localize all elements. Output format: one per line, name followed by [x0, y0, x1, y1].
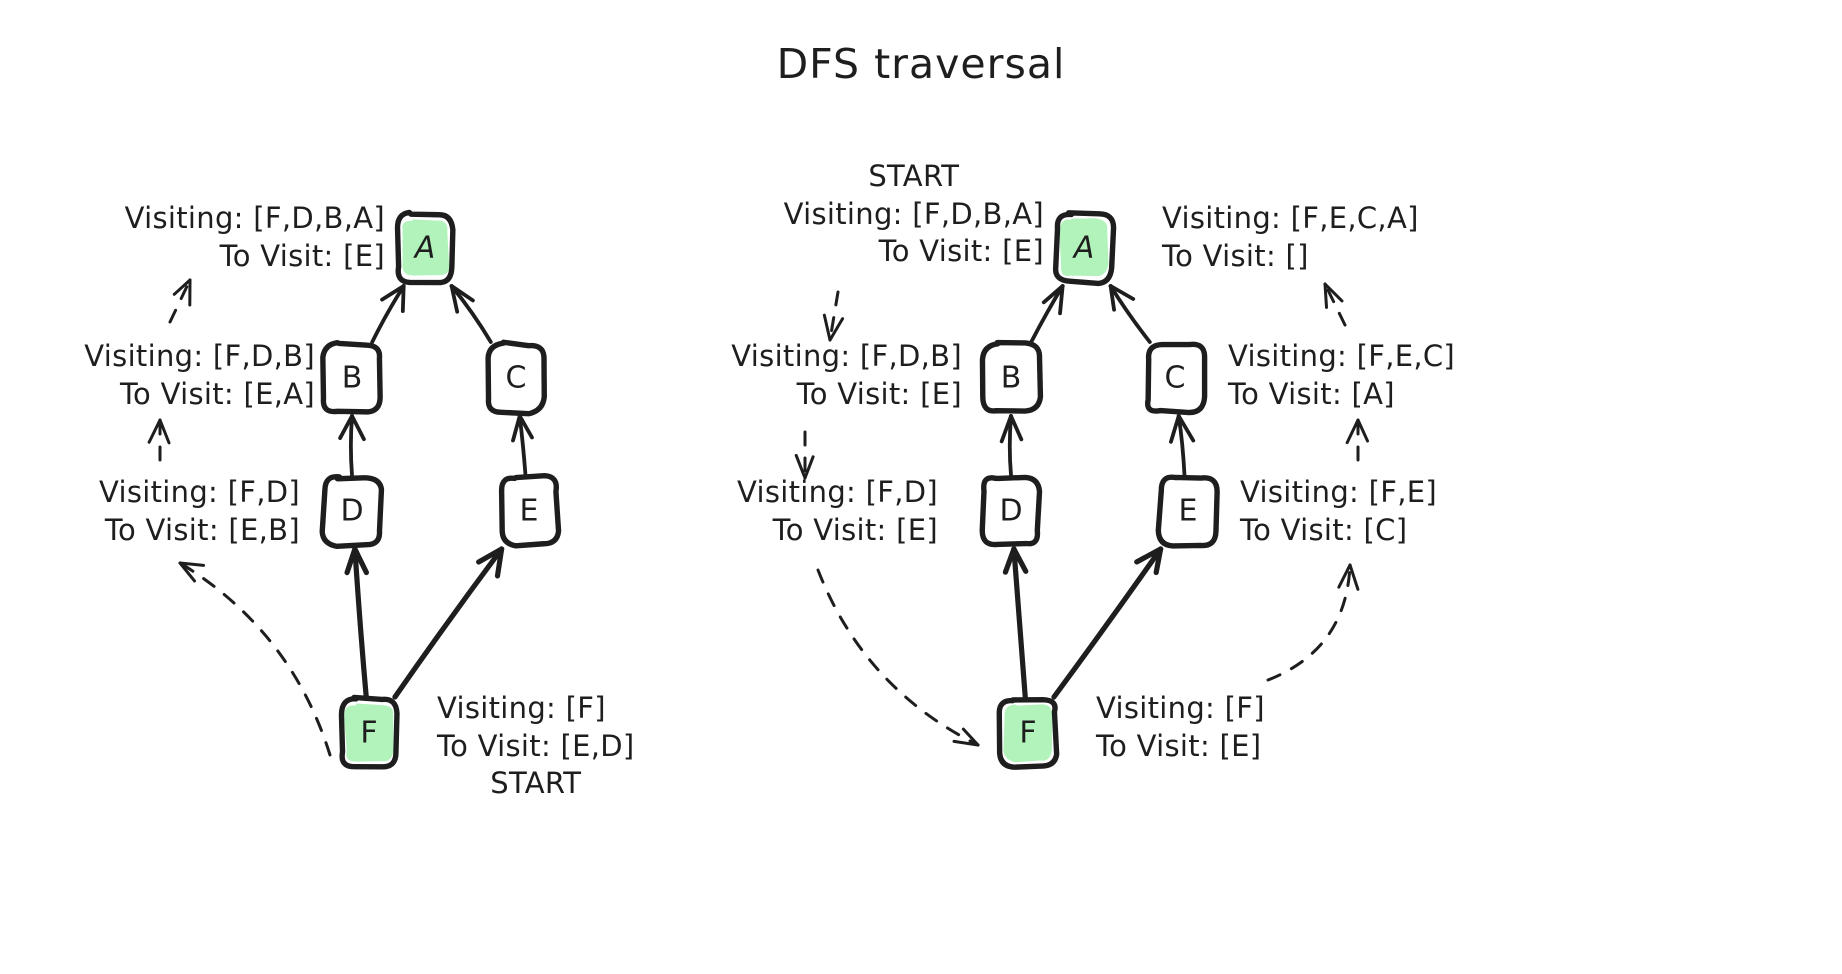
flow-d-to-f	[818, 570, 978, 745]
state-right-step-3-line-2: To Visit: [A]	[1228, 376, 1455, 414]
flow-b-to-a-head	[174, 280, 190, 305]
state-right-step-2-line-2: To Visit: [C]	[1240, 512, 1437, 550]
node-C-fill	[1150, 349, 1200, 408]
edge-C-to-A	[1111, 286, 1150, 342]
state-start-line-3: To Visit: [E]	[784, 233, 1044, 271]
node-D-fill	[328, 482, 376, 540]
state-step-1-line-2: To Visit: [E,D]	[437, 728, 635, 766]
node-B-fill	[327, 349, 376, 408]
node-E-fill	[506, 481, 553, 539]
edge-D-to-B	[351, 416, 352, 475]
state-step-4-line-2: To Visit: [E]	[125, 238, 385, 276]
node-E-fill	[1164, 482, 1211, 540]
edge-F-to-E	[1054, 549, 1161, 697]
state-right-step-1-line-1: Visiting: [F]	[1096, 690, 1265, 728]
flow-f-to-e	[1268, 565, 1350, 680]
node-C-fill	[492, 348, 540, 406]
state-right-step-4-line-2: To Visit: []	[1162, 238, 1419, 276]
flow-c-to-a-head	[1325, 284, 1342, 307]
state-step-3-line-1: Visiting: [F,D,B]	[84, 338, 315, 376]
state-left-step-2-line-1: Visiting: [F,D]	[737, 474, 938, 512]
state-right-step-2: Visiting: [F,E]To Visit: [C]	[1240, 474, 1437, 549]
state-right-step-4-line-1: Visiting: [F,E,C,A]	[1162, 200, 1419, 238]
state-left-step-3-line-2: To Visit: [E]	[731, 376, 962, 414]
state-right-step-3: Visiting: [F,E,C]To Visit: [A]	[1228, 338, 1455, 413]
state-step-4: Visiting: [F,D,B,A]To Visit: [E]	[125, 200, 385, 275]
state-left-step-3-line-1: Visiting: [F,D,B]	[731, 338, 962, 376]
edge-C-to-A	[452, 286, 491, 342]
state-right-step-2-line-1: Visiting: [F,E]	[1240, 474, 1437, 512]
edge-D-to-B	[1010, 416, 1011, 475]
flow-c-to-a	[1325, 284, 1345, 325]
state-step-4-line-1: Visiting: [F,D,B,A]	[125, 200, 385, 238]
state-start-line-1: START	[784, 158, 1044, 196]
state-step-3: Visiting: [F,D,B]To Visit: [E,A]	[84, 338, 315, 413]
state-step-3-line-2: To Visit: [E,A]	[84, 376, 315, 414]
state-step-2-line-1: Visiting: [F,D]	[99, 474, 300, 512]
diagram-canvas: DFS traversal ABCDEFVisiting: [F,D,B,A]T…	[0, 0, 1842, 974]
state-left-step-2: Visiting: [F,D]To Visit: [E]	[737, 474, 938, 549]
state-right-step-1-line-2: To Visit: [E]	[1096, 728, 1265, 766]
flow-f-to-d	[180, 563, 330, 755]
node-F-fill	[1003, 704, 1052, 762]
flow-d-to-f-head	[954, 729, 978, 745]
edge-F-to-E	[395, 549, 502, 697]
state-step-1-line-1: Visiting: [F]	[437, 690, 635, 728]
state-step-1-line-3: START	[437, 765, 635, 803]
state-left-step-3: Visiting: [F,D,B]To Visit: [E]	[731, 338, 962, 413]
flow-b-to-a	[170, 280, 190, 322]
edge-B-to-A	[1031, 286, 1062, 342]
state-step-2-line-2: To Visit: [E,B]	[99, 512, 300, 550]
node-B-fill	[987, 349, 1036, 408]
state-right-step-3-line-1: Visiting: [F,E,C]	[1228, 338, 1455, 376]
node-A-fill	[1059, 218, 1108, 276]
state-start: STARTVisiting: [F,D,B,A]To Visit: [E]	[784, 158, 1044, 271]
state-step-2: Visiting: [F,D]To Visit: [E,B]	[99, 474, 300, 549]
node-F-fill	[344, 704, 393, 762]
node-A-fill	[402, 219, 449, 275]
state-right-step-4: Visiting: [F,E,C,A]To Visit: []	[1162, 200, 1419, 275]
state-step-1: Visiting: [F]To Visit: [E,D]START	[437, 690, 635, 803]
state-left-step-2-line-2: To Visit: [E]	[737, 512, 938, 550]
state-right-step-1: Visiting: [F]To Visit: [E]	[1096, 690, 1265, 765]
state-start-line-2: Visiting: [F,D,B,A]	[784, 196, 1044, 234]
node-D-fill	[987, 481, 1036, 540]
